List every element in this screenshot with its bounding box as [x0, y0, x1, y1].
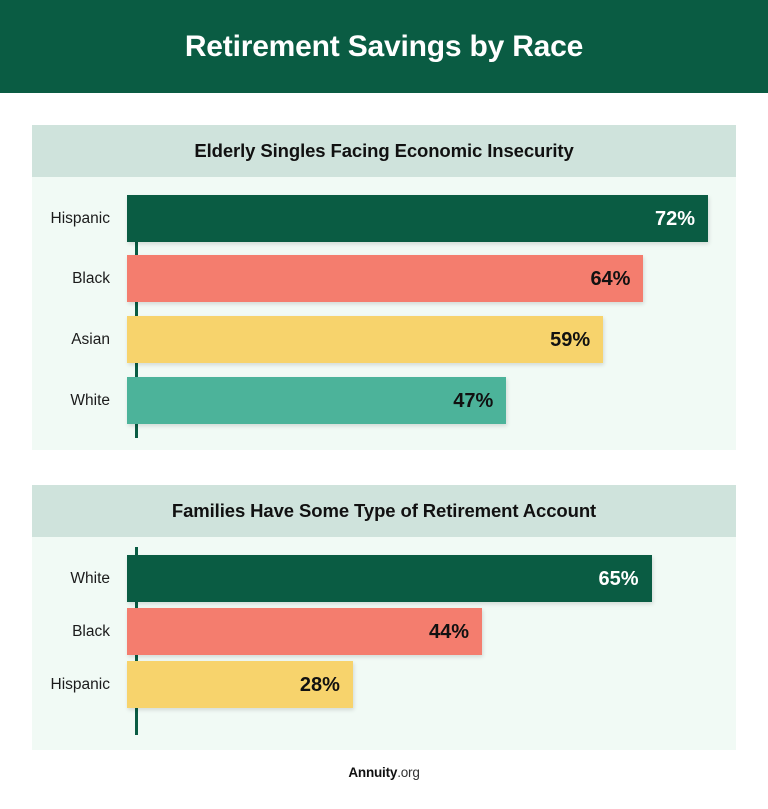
chart-2-row-1: Black 44% [32, 608, 736, 655]
chart-2-bar-0[interactable]: 65% [127, 555, 652, 602]
chart-1-value-label-0: 72% [655, 209, 708, 229]
chart-1-category-label-0: Hispanic [32, 211, 124, 227]
chart-2-category-label-1: Black [32, 624, 124, 640]
footer: Annuity.org [0, 766, 768, 780]
chart-2-category-label-0: White [32, 571, 124, 587]
chart-1-bar-3[interactable]: 47% [127, 377, 506, 424]
chart-2-bar-track-0: 65% [124, 555, 736, 602]
chart-1-value-label-2: 59% [550, 330, 603, 350]
page-title: Retirement Savings by Race [185, 32, 583, 62]
chart-1-bar-track-1: 64% [124, 255, 736, 302]
chart-1-bar-track-2: 59% [124, 316, 736, 363]
chart-1-value-label-3: 47% [453, 391, 506, 411]
chart-1-header: Elderly Singles Facing Economic Insecuri… [32, 125, 736, 177]
chart-2-category-label-2: Hispanic [32, 677, 124, 693]
chart-1-category-label-3: White [32, 393, 124, 409]
chart-1-category-label-2: Asian [32, 332, 124, 348]
chart-2-row-2: Hispanic 28% [32, 661, 736, 708]
chart-1-row-1: Black 64% [32, 255, 736, 302]
chart-1-row-2: Asian 59% [32, 316, 736, 363]
chart-2-plot-area: White 65% Black 44% Hispanic [32, 537, 736, 750]
chart-2-row-0: White 65% [32, 555, 736, 602]
annuity-org-logo: Annuity.org [348, 766, 419, 780]
chart-2-value-label-0: 65% [599, 569, 652, 589]
header-banner: Retirement Savings by Race [0, 0, 768, 93]
logo-brand-text: Annuity [348, 765, 397, 780]
infographic-root: Retirement Savings by Race Elderly Singl… [0, 0, 768, 809]
chart-2-value-label-2: 28% [300, 675, 353, 695]
chart-1-bar-2[interactable]: 59% [127, 316, 603, 363]
chart-1-row-0: Hispanic 72% [32, 195, 736, 242]
chart-2-bar-1[interactable]: 44% [127, 608, 482, 655]
chart-1-bar-track-3: 47% [124, 377, 736, 424]
chart-1-row-3: White 47% [32, 377, 736, 424]
chart-1-value-label-1: 64% [590, 269, 643, 289]
chart-panel-elderly-singles: Elderly Singles Facing Economic Insecuri… [32, 125, 736, 450]
chart-1-bar-0[interactable]: 72% [127, 195, 708, 242]
chart-2-bar-2[interactable]: 28% [127, 661, 353, 708]
chart-2-value-label-1: 44% [429, 622, 482, 642]
chart-1-plot-area: Hispanic 72% Black 64% Asian [32, 177, 736, 450]
chart-panel-retirement-account: Families Have Some Type of Retirement Ac… [32, 485, 736, 750]
chart-2-header: Families Have Some Type of Retirement Ac… [32, 485, 736, 537]
chart-1-category-label-1: Black [32, 271, 124, 287]
logo-tld-text: .org [397, 765, 419, 780]
chart-2-bar-track-2: 28% [124, 661, 736, 708]
chart-2-title: Families Have Some Type of Retirement Ac… [172, 502, 596, 521]
chart-1-bar-track-0: 72% [124, 195, 736, 242]
chart-1-bar-1[interactable]: 64% [127, 255, 643, 302]
chart-1-title: Elderly Singles Facing Economic Insecuri… [194, 142, 573, 161]
chart-2-bar-track-1: 44% [124, 608, 736, 655]
